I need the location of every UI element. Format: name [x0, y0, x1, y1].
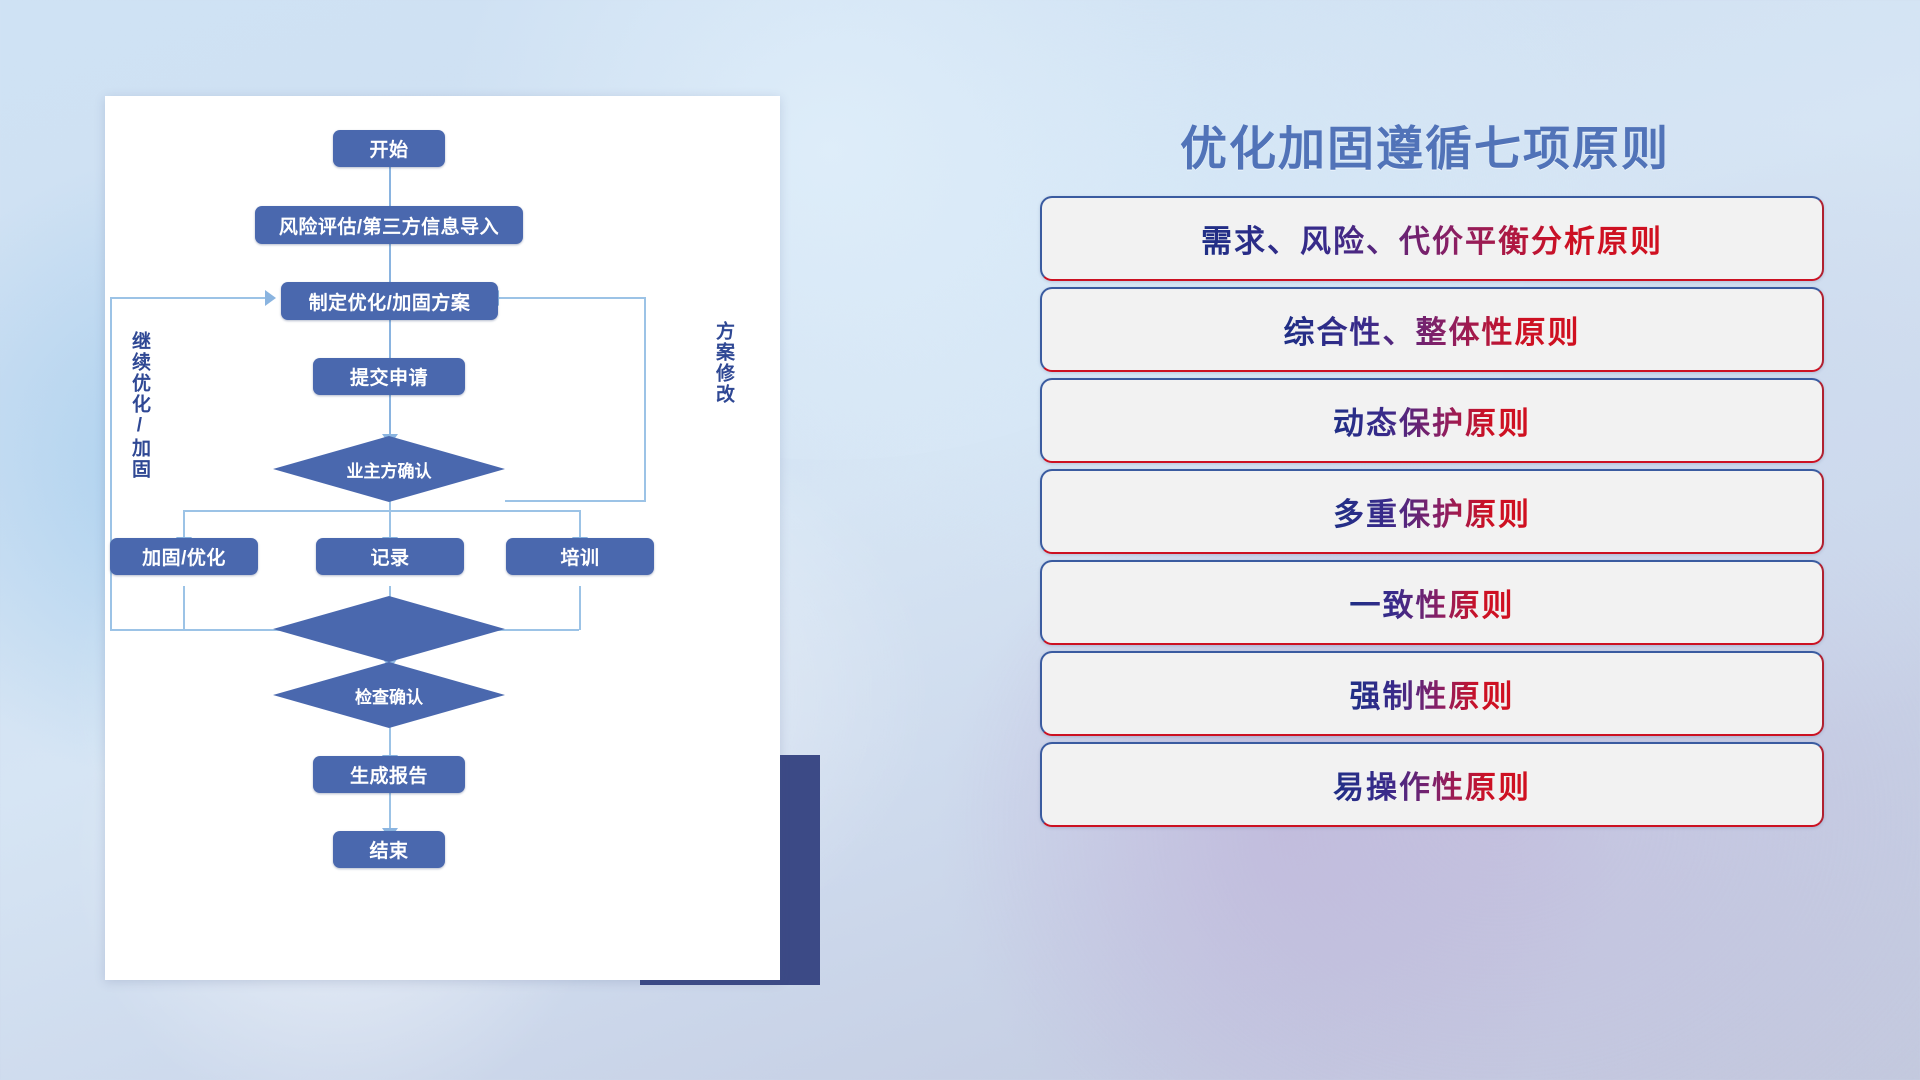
flow-node-record[interactable]: 记录: [316, 538, 464, 575]
edge-plan-to-submit: [389, 319, 391, 361]
page-title: 优化加固遵循七项原则: [1020, 110, 1830, 179]
principle-label-2: 综合性、整体性原则: [1284, 307, 1581, 352]
principles-panel: 优化加固遵循七项原则 需求、风险、代价平衡分析原则 综合性、整体性原则 动态保护…: [1020, 0, 1920, 1080]
flow-node-end[interactable]: 结束: [333, 831, 445, 868]
edge-owner-down: [389, 500, 391, 538]
flow-node-check-confirm-hidden-placeholder: [273, 596, 505, 662]
edge-check-left: [110, 629, 285, 631]
principle-label-7: 易操作性原则: [1333, 762, 1531, 807]
principle-card-3[interactable]: 动态保护原则: [1040, 378, 1824, 463]
edge-right-riser: [644, 297, 646, 502]
edge-training-down: [579, 586, 581, 630]
edge-submit-to-owner: [389, 395, 391, 437]
flow-node-risk-assessment[interactable]: 风险评估/第三方信息导入: [255, 206, 523, 244]
principle-card-1[interactable]: 需求、风险、代价平衡分析原则: [1040, 196, 1824, 281]
principle-card-7[interactable]: 易操作性原则: [1040, 742, 1824, 827]
flow-node-training[interactable]: 培训: [506, 538, 654, 575]
principle-card-4[interactable]: 多重保护原则: [1040, 469, 1824, 554]
flow-node-make-plan[interactable]: 制定优化/加固方案: [281, 282, 498, 320]
principle-card-6[interactable]: 强制性原则: [1040, 651, 1824, 736]
edge-reinforce-down: [183, 586, 185, 630]
edge-risk-to-plan: [389, 243, 391, 285]
principle-label-6: 强制性原则: [1350, 671, 1515, 716]
principle-card-2[interactable]: 综合性、整体性原则: [1040, 287, 1824, 372]
flow-label-continue-optimize: 继续优化/加固: [129, 331, 149, 480]
arrowhead-left-to-plan: [265, 290, 276, 306]
edge-fanout-bus: [183, 510, 579, 512]
edge-start-to-risk: [389, 167, 391, 209]
flow-node-owner-confirm[interactable]: 业主方确认: [273, 436, 505, 502]
principle-label-1: 需求、风险、代价平衡分析原则: [1201, 216, 1663, 261]
flowchart-canvas: 继续优化/加固 方案修改 开始 风险评估/第三方信息导入 制定优化/加固方案 提…: [105, 96, 780, 980]
edge-owner-right: [505, 500, 646, 502]
principle-label-3: 动态保护原则: [1333, 398, 1531, 443]
edge-left-riser: [110, 297, 112, 631]
flow-node-generate-report[interactable]: 生成报告: [313, 756, 465, 793]
flow-node-reinforce-optimize[interactable]: 加固/优化: [110, 538, 258, 575]
flow-label-plan-revision: 方案修改: [713, 321, 733, 405]
edge-fanout-right-drop: [579, 510, 581, 540]
flow-node-start[interactable]: 开始: [333, 130, 445, 167]
flow-node-check-confirm[interactable]: 检查确认: [273, 662, 505, 728]
principle-label-5: 一致性原则: [1350, 580, 1515, 625]
edge-fanout-left-drop: [183, 510, 185, 540]
edge-right-to-plan: [499, 297, 646, 299]
edge-report-to-end: [389, 793, 391, 831]
edge-left-to-plan: [110, 297, 267, 299]
flow-node-submit-application[interactable]: 提交申请: [313, 358, 465, 395]
principle-label-4: 多重保护原则: [1333, 489, 1531, 534]
principle-card-5[interactable]: 一致性原则: [1040, 560, 1824, 645]
